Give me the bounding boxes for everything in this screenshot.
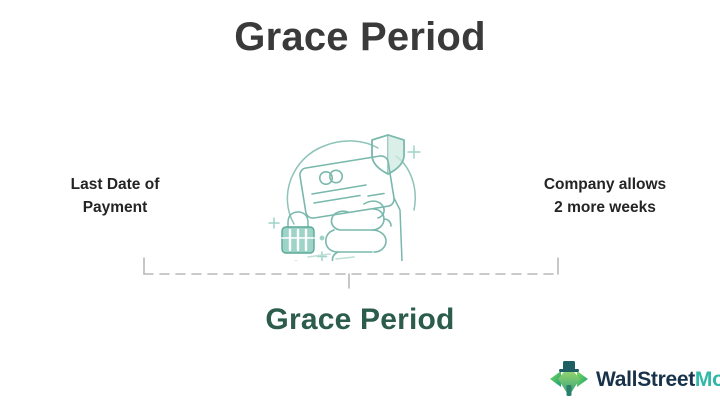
shield-icon bbox=[372, 135, 404, 174]
padlock-icon bbox=[282, 212, 314, 253]
left-milestone-label: Last Date of Payment bbox=[18, 173, 212, 220]
brand-name-accent: Mojo bbox=[695, 368, 720, 391]
brand-name-primary: WallStreet bbox=[596, 368, 695, 391]
grace-period-bracket bbox=[136, 252, 566, 292]
infographic-canvas: Grace Period Last Date of Payment Compan… bbox=[0, 0, 720, 409]
hand-holding-credit-card-illustration bbox=[268, 126, 448, 261]
brand-wordmark: WallStreetMojo bbox=[596, 369, 720, 390]
page-title: Grace Period bbox=[0, 14, 720, 60]
bracket-caption: Grace Period bbox=[0, 303, 720, 337]
credit-card-icon bbox=[300, 156, 394, 218]
wallstreetmojo-diamond-hat-logo bbox=[548, 358, 590, 400]
right-milestone-label: Company allows 2 more weeks bbox=[508, 173, 702, 220]
wallstreetmojo-logo[interactable]: WallStreetMojo bbox=[548, 358, 720, 400]
